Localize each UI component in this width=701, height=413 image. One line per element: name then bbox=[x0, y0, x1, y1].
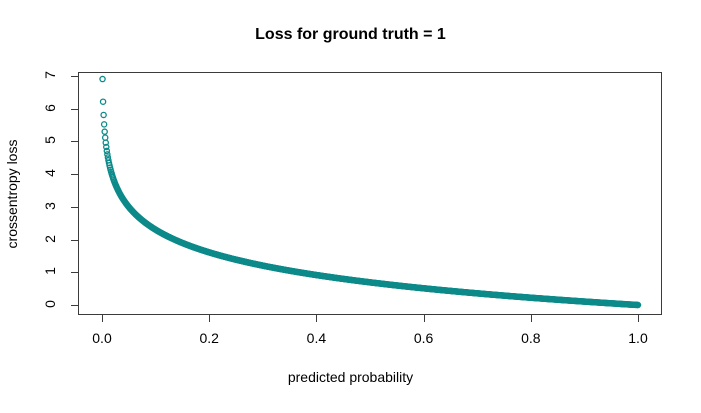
x-tick-label-1.0: 1.0 bbox=[608, 330, 668, 346]
x-tick-0.2 bbox=[209, 315, 210, 322]
x-tick-0.4 bbox=[316, 315, 317, 322]
y-tick-3 bbox=[71, 207, 78, 208]
y-tick-2 bbox=[71, 240, 78, 241]
y-tick-label-3: 3 bbox=[42, 194, 58, 218]
x-tick-label-0.0: 0.0 bbox=[72, 330, 132, 346]
x-tick-0.0 bbox=[102, 315, 103, 322]
x-tick-0.8 bbox=[531, 315, 532, 322]
x-tick-label-0.6: 0.6 bbox=[394, 330, 454, 346]
y-tick-1 bbox=[71, 272, 78, 273]
y-tick-label-4: 4 bbox=[42, 161, 58, 185]
y-tick-label-6: 6 bbox=[42, 96, 58, 120]
x-tick-0.6 bbox=[424, 315, 425, 322]
y-tick-7 bbox=[71, 76, 78, 77]
x-tick-label-0.2: 0.2 bbox=[179, 330, 239, 346]
y-tick-0 bbox=[71, 305, 78, 306]
x-tick-1.0 bbox=[638, 315, 639, 322]
x-tick-label-0.8: 0.8 bbox=[501, 330, 561, 346]
x-axis-label: predicted probability bbox=[0, 369, 701, 385]
y-tick-label-5: 5 bbox=[42, 128, 58, 152]
plot-canvas: Loss for ground truth = 1 0.00.20.40.60.… bbox=[0, 0, 701, 413]
y-axis-label-wrapper: crossentropy loss bbox=[0, 72, 24, 315]
y-tick-6 bbox=[71, 109, 78, 110]
y-tick-4 bbox=[71, 174, 78, 175]
y-tick-5 bbox=[71, 141, 78, 142]
data-series-scatter bbox=[78, 72, 662, 315]
x-tick-label-0.4: 0.4 bbox=[286, 330, 346, 346]
y-tick-label-0: 0 bbox=[42, 292, 58, 316]
plot-area bbox=[78, 72, 662, 315]
chart-title: Loss for ground truth = 1 bbox=[0, 26, 701, 44]
y-tick-label-7: 7 bbox=[42, 63, 58, 87]
y-tick-label-1: 1 bbox=[42, 259, 58, 283]
y-tick-label-2: 2 bbox=[42, 227, 58, 251]
y-axis-label: crossentropy loss bbox=[4, 139, 20, 248]
